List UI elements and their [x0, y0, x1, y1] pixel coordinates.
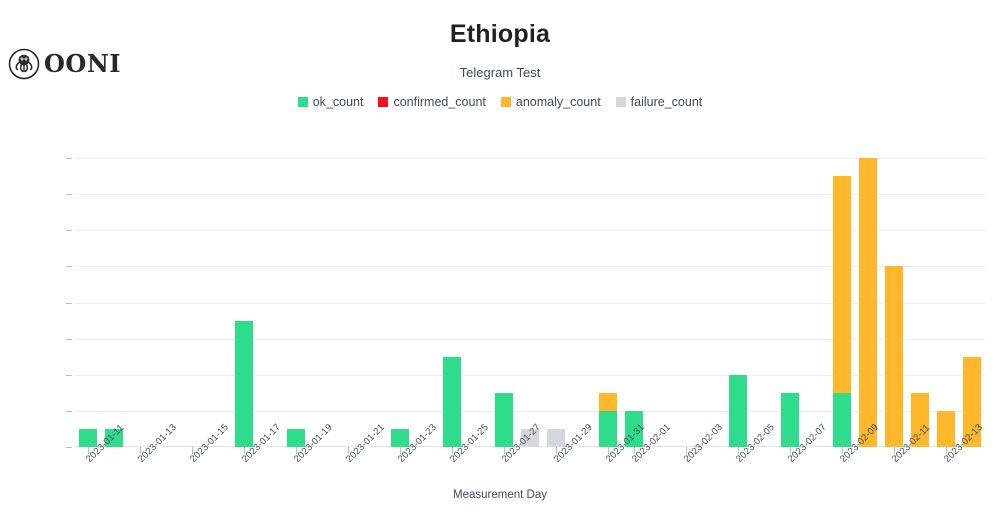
- bar-segment-ok-count[interactable]: [833, 393, 851, 447]
- legend-swatch-icon: [298, 97, 308, 107]
- y-tick-mark: [66, 194, 72, 195]
- bar-2023-01-25[interactable]: [443, 357, 461, 447]
- chart-title: Ethiopia: [0, 20, 1000, 49]
- bar-segment-ok-count[interactable]: [729, 375, 747, 447]
- bar-segment-ok-count[interactable]: [287, 429, 305, 447]
- y-tick-mark: [66, 303, 72, 304]
- bar-segment-anomaly-count[interactable]: [833, 176, 851, 393]
- bar-segment-ok-count[interactable]: [79, 429, 97, 447]
- bar-2023-02-13[interactable]: [937, 411, 955, 447]
- legend-label: failure_count: [631, 95, 703, 109]
- bar-2023-02-05[interactable]: [729, 375, 747, 447]
- legend-label: anomaly_count: [516, 95, 601, 109]
- legend-item-confirmed-count[interactable]: confirmed_count: [378, 95, 485, 109]
- y-tick-mark: [66, 339, 72, 340]
- y-tick-mark: [66, 230, 72, 231]
- x-tick-label: 2023-01-13: [136, 422, 179, 465]
- y-tick-mark: [66, 447, 72, 448]
- x-tick-label: 2023-02-03: [682, 422, 725, 465]
- bar-2023-01-11[interactable]: [79, 429, 97, 447]
- bar-segment-anomaly-count[interactable]: [859, 158, 877, 447]
- x-tick-label: 2023-01-21: [344, 422, 387, 465]
- bar-segment-ok-count[interactable]: [495, 393, 513, 447]
- bar-2023-01-27[interactable]: [495, 393, 513, 447]
- bar-segment-anomaly-count[interactable]: [599, 393, 617, 411]
- bar-2023-02-11[interactable]: [885, 266, 903, 447]
- bar-segment-ok-count[interactable]: [599, 411, 617, 447]
- legend-item-failure-count[interactable]: failure_count: [616, 95, 703, 109]
- bar-2023-01-17[interactable]: [235, 321, 253, 447]
- bar-segment-ok-count[interactable]: [391, 429, 409, 447]
- bar-2023-02-07[interactable]: [781, 393, 799, 447]
- y-tick-mark: [66, 375, 72, 376]
- x-tick-label: 2023-01-15: [188, 422, 231, 465]
- legend-item-ok-count[interactable]: ok_count: [298, 95, 364, 109]
- legend-label: ok_count: [313, 95, 364, 109]
- chart-plot-area: 02468101214162023-01-112023-01-132023-01…: [75, 158, 985, 447]
- y-tick-mark: [66, 411, 72, 412]
- x-axis-title: Measurement Day: [0, 489, 1000, 501]
- bar-2023-01-31[interactable]: [599, 393, 617, 447]
- bar-2023-01-29[interactable]: [547, 429, 565, 447]
- y-tick-mark: [66, 158, 72, 159]
- chart-subtitle: Telegram Test: [0, 65, 1000, 80]
- legend-label: confirmed_count: [393, 95, 485, 109]
- bar-segment-anomaly-count[interactable]: [885, 266, 903, 447]
- bar-segment-ok-count[interactable]: [235, 321, 253, 447]
- bar-segment-ok-count[interactable]: [443, 357, 461, 447]
- bar-segment-failure-count[interactable]: [547, 429, 565, 447]
- bar-2023-02-10[interactable]: [859, 158, 877, 447]
- bar-segment-ok-count[interactable]: [781, 393, 799, 447]
- bar-2023-02-09[interactable]: [833, 176, 851, 447]
- bar-2023-01-19[interactable]: [287, 429, 305, 447]
- y-tick-mark: [66, 266, 72, 267]
- legend-swatch-icon: [378, 97, 388, 107]
- legend-item-anomaly-count[interactable]: anomaly_count: [501, 95, 601, 109]
- legend-swatch-icon: [616, 97, 626, 107]
- bar-segment-anomaly-count[interactable]: [937, 411, 955, 447]
- legend-swatch-icon: [501, 97, 511, 107]
- chart-legend: ok_countconfirmed_countanomaly_countfail…: [0, 95, 1000, 109]
- bar-2023-01-23[interactable]: [391, 429, 409, 447]
- y-gridline: [75, 158, 985, 159]
